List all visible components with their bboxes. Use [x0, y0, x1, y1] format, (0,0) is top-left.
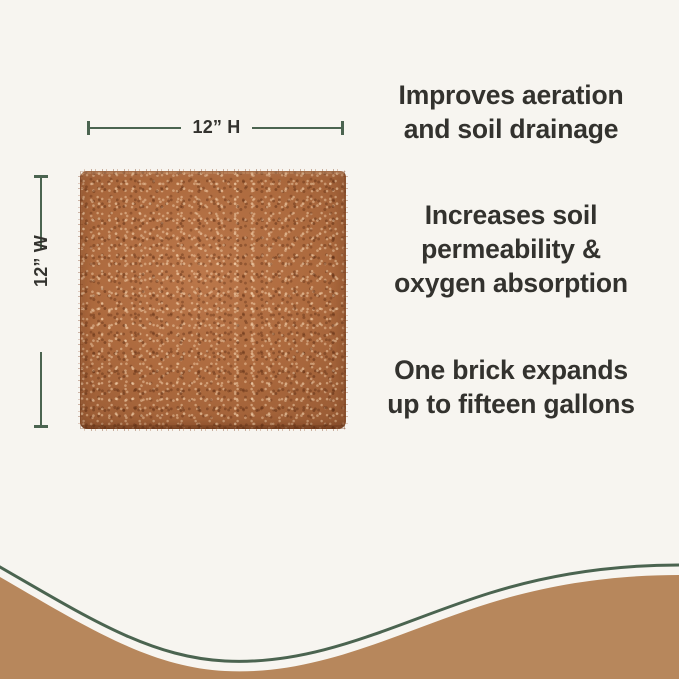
soil-wave-fill: [0, 575, 679, 679]
benefit-item: Improves aeration and soil drainage: [356, 78, 666, 146]
coir-brick-body: [80, 171, 346, 429]
horizontal-dimension-bar-right: [252, 127, 342, 129]
product-infographic: 12” H 12” W Improves aeration and soil d…: [0, 0, 679, 679]
benefit-line: oxygen absorption: [356, 266, 666, 300]
soil-wave-decoration: [0, 519, 679, 679]
horizontal-dimension-label: 12” H: [181, 116, 252, 138]
coir-brick-image: [80, 171, 346, 429]
benefit-line: Improves aeration: [356, 78, 666, 112]
vertical-dimension-cap-bottom: [34, 425, 48, 428]
benefit-line: Increases soil: [356, 198, 666, 232]
vertical-dimension-label: 12” W: [30, 226, 52, 296]
horizontal-dimension-bar-left: [89, 127, 181, 129]
benefit-line: up to fifteen gallons: [356, 387, 666, 421]
benefit-line: One brick expands: [356, 353, 666, 387]
vertical-dimension-bar-bottom: [40, 352, 42, 426]
benefit-line: and soil drainage: [356, 112, 666, 146]
benefits-list: Improves aeration and soil drainage Incr…: [356, 78, 666, 421]
benefit-item: One brick expands up to fifteen gallons: [356, 353, 666, 421]
benefit-line: permeability &: [356, 232, 666, 266]
benefit-item: Increases soil permeability & oxygen abs…: [356, 198, 666, 300]
horizontal-dimension-cap-right: [341, 121, 344, 135]
